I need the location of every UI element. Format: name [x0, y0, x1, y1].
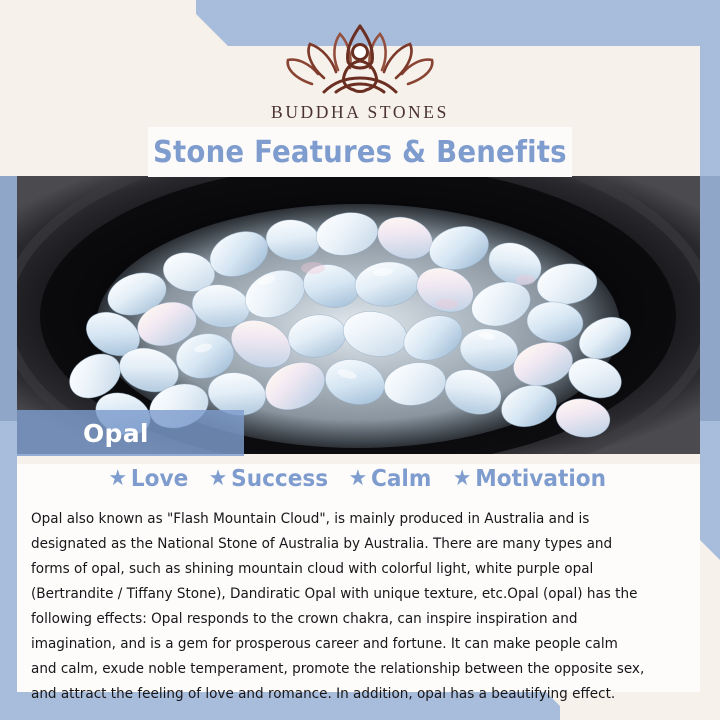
benefit-love: ★ Love	[109, 466, 189, 492]
stone-description-card: ★ Love ★ Success ★ Calm ★ Motivation Opa…	[17, 454, 700, 692]
section-title-banner: Stone Features & Benefits	[148, 127, 572, 177]
lotus-meditation-icon	[276, 22, 444, 100]
stone-info-card: BUDDHA STONES Stone Features & Benefits	[0, 0, 720, 720]
star-icon: ★	[209, 468, 228, 490]
benefit-motivation: ★ Motivation	[453, 466, 606, 492]
star-icon: ★	[349, 468, 368, 490]
photo-right-edge-accent	[700, 176, 720, 421]
brand-logo: BUDDHA STONES	[0, 22, 720, 123]
benefit-calm: ★ Calm	[349, 466, 432, 492]
benefit-label: Motivation	[475, 466, 606, 492]
stone-name-banner: Opal	[17, 410, 244, 456]
benefits-row: ★ Love ★ Success ★ Calm ★ Motivation	[17, 466, 700, 492]
benefit-label: Love	[131, 466, 188, 492]
brand-name: BUDDHA STONES	[0, 102, 720, 123]
benefit-label: Calm	[371, 466, 431, 492]
benefit-label: Success	[231, 466, 328, 492]
benefit-success: ★ Success	[209, 466, 328, 492]
stone-description-text: Opal also known as "Flash Mountain Cloud…	[31, 506, 645, 706]
stone-name-label: Opal	[83, 419, 149, 448]
star-icon: ★	[453, 468, 472, 490]
photo-left-edge-accent	[0, 176, 17, 421]
page-title: Stone Features & Benefits	[153, 135, 567, 170]
star-icon: ★	[109, 468, 128, 490]
